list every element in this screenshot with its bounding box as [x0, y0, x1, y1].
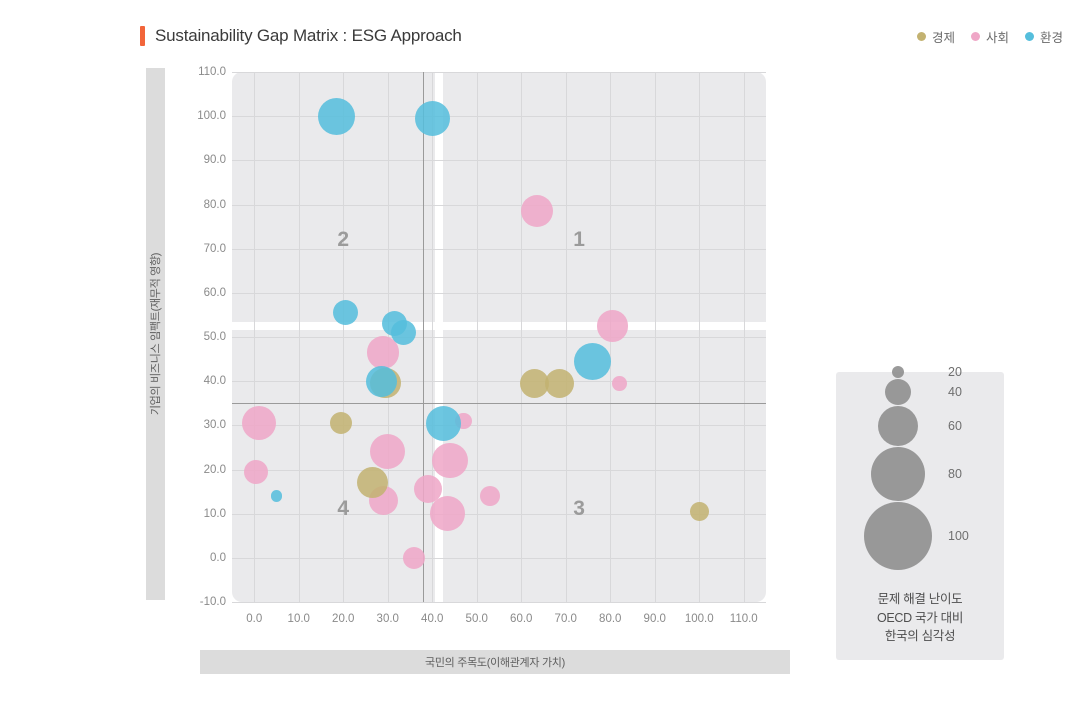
x-tick-label: 110.0	[730, 613, 758, 625]
legend-item-경제[interactable]: 경제	[917, 27, 955, 46]
size-legend-label: 80	[948, 467, 962, 481]
legend-dot-icon	[971, 32, 980, 41]
y-tick-label: 110.0	[180, 66, 226, 78]
legend-dot-icon	[1025, 32, 1034, 41]
x-tick-label: 20.0	[332, 613, 354, 625]
y-tick-label: 40.0	[180, 375, 226, 387]
size-legend-label: 60	[948, 419, 962, 433]
y-tick-label: 30.0	[180, 419, 226, 431]
size-legend-label: 40	[948, 385, 962, 399]
x-tick-label: 100.0	[685, 613, 714, 625]
y-tick-label: 70.0	[180, 243, 226, 255]
quadrant-panel-1	[443, 72, 766, 322]
legend-item-사회[interactable]: 사회	[971, 27, 1009, 46]
size-legend-bubbles: 20406080100	[836, 372, 1004, 582]
legend-item-환경[interactable]: 환경	[1025, 27, 1063, 46]
plot-area: 1234	[232, 72, 766, 602]
size-caption-line-1: 문제 해결 난이도	[836, 590, 1004, 609]
legend-label: 환경	[1040, 27, 1063, 46]
x-tick-label: 60.0	[510, 613, 532, 625]
size-legend-circle-40	[885, 379, 911, 405]
y-axis-title: 기업의 비즈니스 임팩트(재무적 영향)	[148, 253, 164, 415]
quadrant-panel-3	[443, 330, 766, 602]
size-legend-caption: 문제 해결 난이도 OECD 국가 대비 한국의 심각성	[836, 590, 1004, 646]
size-legend: 20406080100 문제 해결 난이도 OECD 국가 대비 한국의 심각성	[836, 372, 1004, 660]
x-tick-label: 70.0	[555, 613, 577, 625]
x-axis-ticks: 0.010.020.030.040.050.060.070.080.090.01…	[232, 613, 766, 631]
page-title: Sustainability Gap Matrix : ESG Approach	[155, 26, 462, 46]
y-tick-label: 90.0	[180, 154, 226, 166]
chart-header: Sustainability Gap Matrix : ESG Approach	[140, 26, 462, 46]
y-tick-label: 100.0	[180, 110, 226, 122]
category-legend: 경제사회환경	[917, 27, 1063, 46]
y-tick-label: 0.0	[180, 552, 226, 564]
quadrant-panel-4	[232, 330, 435, 602]
x-axis-title-bar: 국민의 주목도(이해관계자 가치)	[200, 650, 790, 674]
size-caption-line-3: 한국의 심각성	[836, 627, 1004, 646]
size-legend-circle-60	[878, 406, 918, 446]
y-tick-label: 50.0	[180, 331, 226, 343]
size-legend-circle-20	[892, 366, 904, 378]
title-accent-bar	[140, 26, 145, 46]
size-legend-label: 20	[948, 365, 962, 379]
x-tick-label: 40.0	[421, 613, 443, 625]
y-axis-title-bar: 기업의 비즈니스 임팩트(재무적 영향)	[146, 68, 165, 600]
y-tick-label: -10.0	[180, 596, 226, 608]
size-legend-circle-100	[864, 502, 932, 570]
chart-root: Sustainability Gap Matrix : ESG Approach…	[0, 0, 1091, 720]
x-tick-label: 80.0	[599, 613, 621, 625]
size-legend-label: 100	[948, 529, 969, 543]
y-tick-label: 80.0	[180, 199, 226, 211]
y-axis-ticks: 110.0100.090.080.070.060.050.040.030.020…	[176, 72, 226, 602]
legend-label: 사회	[986, 27, 1009, 46]
x-axis-title: 국민의 주목도(이해관계자 가치)	[425, 654, 565, 670]
x-tick-label: 90.0	[644, 613, 666, 625]
y-tick-label: 60.0	[180, 287, 226, 299]
size-legend-circle-80	[871, 447, 925, 501]
legend-dot-icon	[917, 32, 926, 41]
x-tick-label: 10.0	[288, 613, 310, 625]
gridline-horizontal	[232, 602, 766, 603]
x-tick-label: 50.0	[466, 613, 488, 625]
size-caption-line-2: OECD 국가 대비	[836, 609, 1004, 628]
y-tick-label: 20.0	[180, 464, 226, 476]
y-tick-label: 10.0	[180, 508, 226, 520]
x-tick-label: 30.0	[377, 613, 399, 625]
quadrant-panel-2	[232, 72, 435, 322]
x-tick-label: 0.0	[246, 613, 262, 625]
legend-label: 경제	[932, 27, 955, 46]
